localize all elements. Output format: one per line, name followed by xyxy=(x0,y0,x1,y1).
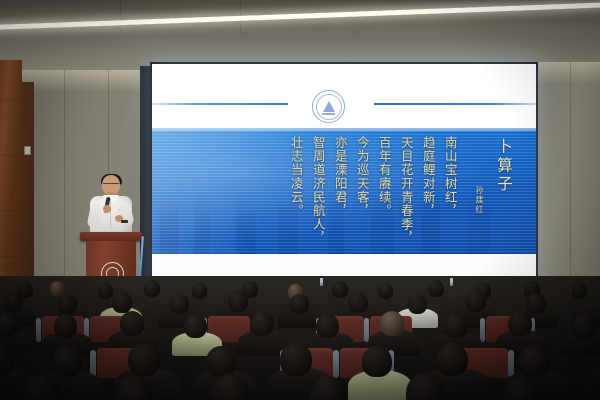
wooden-wall-column xyxy=(0,60,22,296)
side-door[interactable] xyxy=(22,82,34,296)
decorative-rule-left-icon xyxy=(152,103,288,105)
poem-line: 今为巡天客， xyxy=(354,134,369,218)
poem-author: 孙建红 xyxy=(475,134,484,214)
audience-area xyxy=(0,276,600,400)
light-switch-icon[interactable] xyxy=(24,146,31,155)
projection-screen: 卜算子 孙建红 南山宝树红， 趋庭鲤对新， 天目花开青春季， 百年有赓续。 今为… xyxy=(152,64,536,288)
university-seal-icon xyxy=(312,90,345,123)
water-bottle-icon xyxy=(320,278,323,286)
poem-line: 壮志当凌云。 xyxy=(288,134,303,218)
poem-line: 智周道济民航人， xyxy=(310,134,325,245)
poem-title: 卜算子 xyxy=(494,134,512,194)
presenter-hand-left xyxy=(103,205,111,213)
poem-block: 卜算子 孙建红 南山宝树红， 趋庭鲤对新， 天目花开青春季， 百年有赓续。 今为… xyxy=(152,128,536,254)
right-wall xyxy=(536,62,600,294)
wristwatch-icon xyxy=(121,220,128,223)
poem-line: 百年有赓续。 xyxy=(376,134,391,218)
poem-line: 趋庭鲤对新， xyxy=(420,134,435,218)
poem-line: 南山宝树红， xyxy=(442,134,457,218)
slide-blue-band: 卜算子 孙建红 南山宝树红， 趋庭鲤对新， 天目花开青春季， 百年有赓续。 今为… xyxy=(152,128,536,254)
slide-header xyxy=(152,64,536,128)
presenter xyxy=(88,175,134,237)
water-bottle-icon xyxy=(450,278,453,286)
lecture-hall-photo: 卜算子 孙建红 南山宝树红， 趋庭鲤对新， 天目花开青春季， 百年有赓续。 今为… xyxy=(0,0,600,400)
glasses-icon xyxy=(103,183,119,187)
poem-line: 亦是溧阳君， xyxy=(332,134,347,218)
poem-line: 天目花开青春季， xyxy=(398,134,413,245)
decorative-rule-right-icon xyxy=(374,103,536,105)
